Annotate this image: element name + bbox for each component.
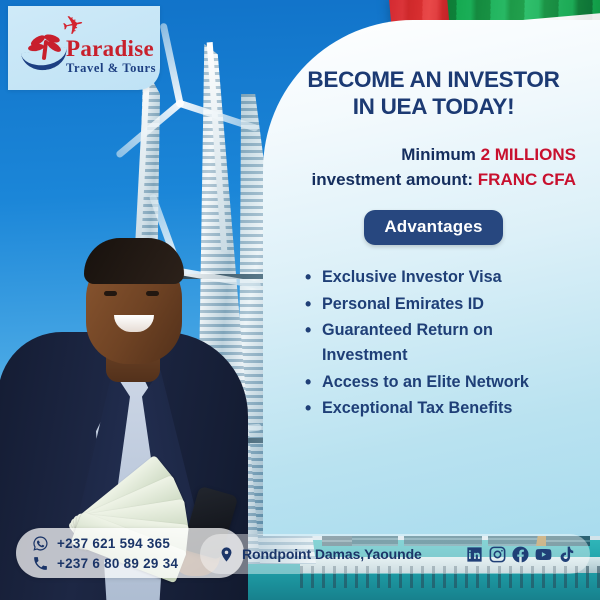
minimum-value: 2 MILLIONS: [481, 145, 576, 164]
whatsapp-number: +237 621 594 365: [57, 536, 170, 551]
eye-left: [104, 291, 117, 296]
list-item: Guaranteed Return on Investment: [305, 318, 580, 367]
phone-icon: [32, 555, 49, 572]
brand-logo: ✈ Paradise Travel & Tours: [8, 6, 160, 90]
whatsapp-icon: [32, 535, 49, 552]
instagram-icon[interactable]: [488, 545, 507, 564]
badge-container: Advantages: [287, 210, 580, 245]
minimum-line: Minimum 2 MILLIONS: [287, 143, 576, 168]
advantages-list: Exclusive Investor Visa Personal Emirate…: [305, 265, 580, 421]
content-panel: BECOME AN INVESTOR IN UEA TODAY! Minimum…: [263, 20, 600, 536]
page-title: BECOME AN INVESTOR IN UEA TODAY!: [287, 66, 580, 121]
phone-number: +237 6 80 89 29 34: [57, 556, 178, 571]
brand-tagline: Travel & Tours: [66, 61, 156, 76]
youtube-icon[interactable]: [534, 545, 553, 564]
advantages-badge: Advantages: [364, 210, 502, 245]
linkedin-icon[interactable]: [465, 545, 484, 564]
office-address: Rondpoint Damas,Yaounde: [242, 546, 422, 562]
minimum-label: Minimum: [401, 145, 476, 164]
amount-line: investment amount: FRANC CFA: [287, 168, 576, 193]
tiktok-icon[interactable]: [557, 545, 576, 564]
amount-label: investment amount:: [312, 170, 474, 189]
list-item: Access to an Elite Network: [305, 370, 580, 395]
list-item: Exceptional Tax Benefits: [305, 396, 580, 421]
hair: [84, 238, 184, 284]
list-item: Exclusive Investor Visa: [305, 265, 580, 290]
eye-right: [146, 291, 159, 296]
location-pin-icon: [218, 546, 235, 563]
investor-promo-flyer: BECOME AN INVESTOR IN UEA TODAY! Minimum…: [0, 0, 600, 600]
headline-line-2: IN UEA TODAY!: [287, 93, 580, 120]
amount-currency: FRANC CFA: [478, 170, 576, 189]
airplane-icon: ✈: [60, 8, 104, 38]
list-item: Personal Emirates ID: [305, 292, 580, 317]
address-and-socials-bar: Rondpoint Damas,Yaounde: [200, 534, 590, 574]
facebook-icon[interactable]: [511, 545, 530, 564]
headline-line-1: BECOME AN INVESTOR: [287, 66, 580, 93]
palm-plane-swoosh-icon: [22, 32, 68, 72]
investment-subheading: Minimum 2 MILLIONS investment amount: FR…: [287, 143, 580, 192]
social-links: [465, 545, 576, 564]
brand-name: Paradise: [66, 36, 154, 62]
